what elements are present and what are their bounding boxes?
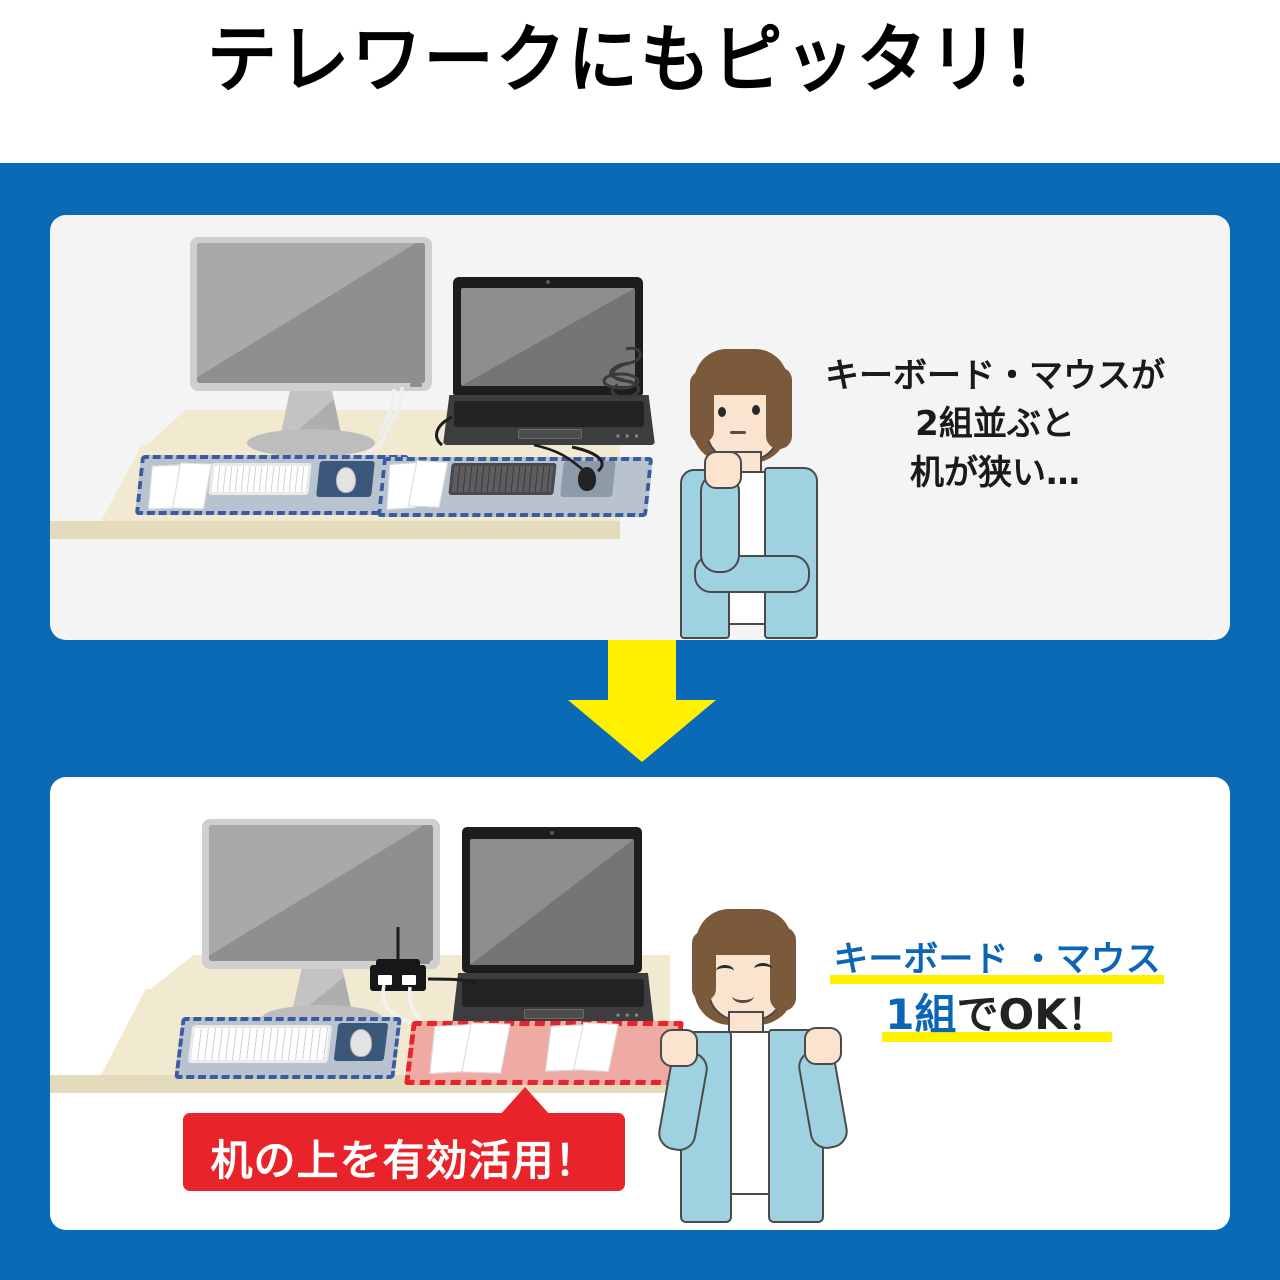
title-bar: テレワークにもピッタリ！: [0, 0, 1280, 163]
laptop-ports-after: ■ ■ ■: [616, 1013, 640, 1019]
before-callout-line-2: 2組並ぶと: [780, 400, 1210, 448]
white-keyboard: [208, 463, 311, 495]
arrow-shaft: [608, 640, 676, 708]
laptop-cable: [422, 411, 642, 481]
eye-right-closed-icon: [754, 963, 772, 975]
white-mouse: [336, 467, 356, 493]
banner-pointer: [500, 1087, 550, 1115]
illustration-stage: テレワークにもピッタリ！ ■ ■ ■: [0, 0, 1280, 1280]
white-mouse-after: [350, 1029, 372, 1057]
fist-left: [660, 1029, 698, 1067]
after-callout-line-2: 1組でOK！: [882, 988, 1112, 1043]
arrow-head: [568, 700, 716, 762]
banner-label: 机の上を有効活用！: [183, 1127, 625, 1188]
after-callout-number: 1組: [885, 990, 956, 1039]
after-callout-suffix: でOK！: [956, 990, 1108, 1039]
hand-on-chin: [704, 451, 742, 489]
desktop-monitor-screen: [197, 243, 425, 383]
after-callout-line-1: キーボード ・マウス: [830, 938, 1163, 984]
before-callout-line-1: キーボード・マウスが: [780, 352, 1210, 400]
eye-right-icon: [752, 405, 760, 415]
page-title: テレワークにもピッタリ！: [32, 22, 1248, 100]
after-callout: キーボード ・マウス 1組でOK！: [772, 938, 1222, 1042]
laptop-touchpad-after: [524, 1009, 584, 1019]
before-callout-line-3: 机が狭い…: [780, 449, 1210, 497]
tangled-cable-icon: [568, 343, 648, 413]
desk-front-edge: [50, 521, 620, 539]
monitor-cable: [346, 383, 406, 463]
monitor-power-led: [410, 383, 422, 387]
monitor-glare: [197, 243, 425, 383]
highlight-banner: 机の上を有効活用！: [183, 1113, 625, 1191]
smile-icon: [732, 989, 754, 1003]
before-panel: ■ ■ ■: [50, 215, 1230, 640]
before-callout: キーボード・マウスが 2組並ぶと 机が狭い…: [780, 352, 1210, 497]
laptop-camera-icon: [546, 280, 550, 284]
laptop-camera-icon-after: [550, 831, 554, 835]
white-keyboard-after: [188, 1025, 333, 1063]
eye-left-closed-icon: [716, 965, 734, 977]
eye-left-icon: [718, 407, 726, 417]
